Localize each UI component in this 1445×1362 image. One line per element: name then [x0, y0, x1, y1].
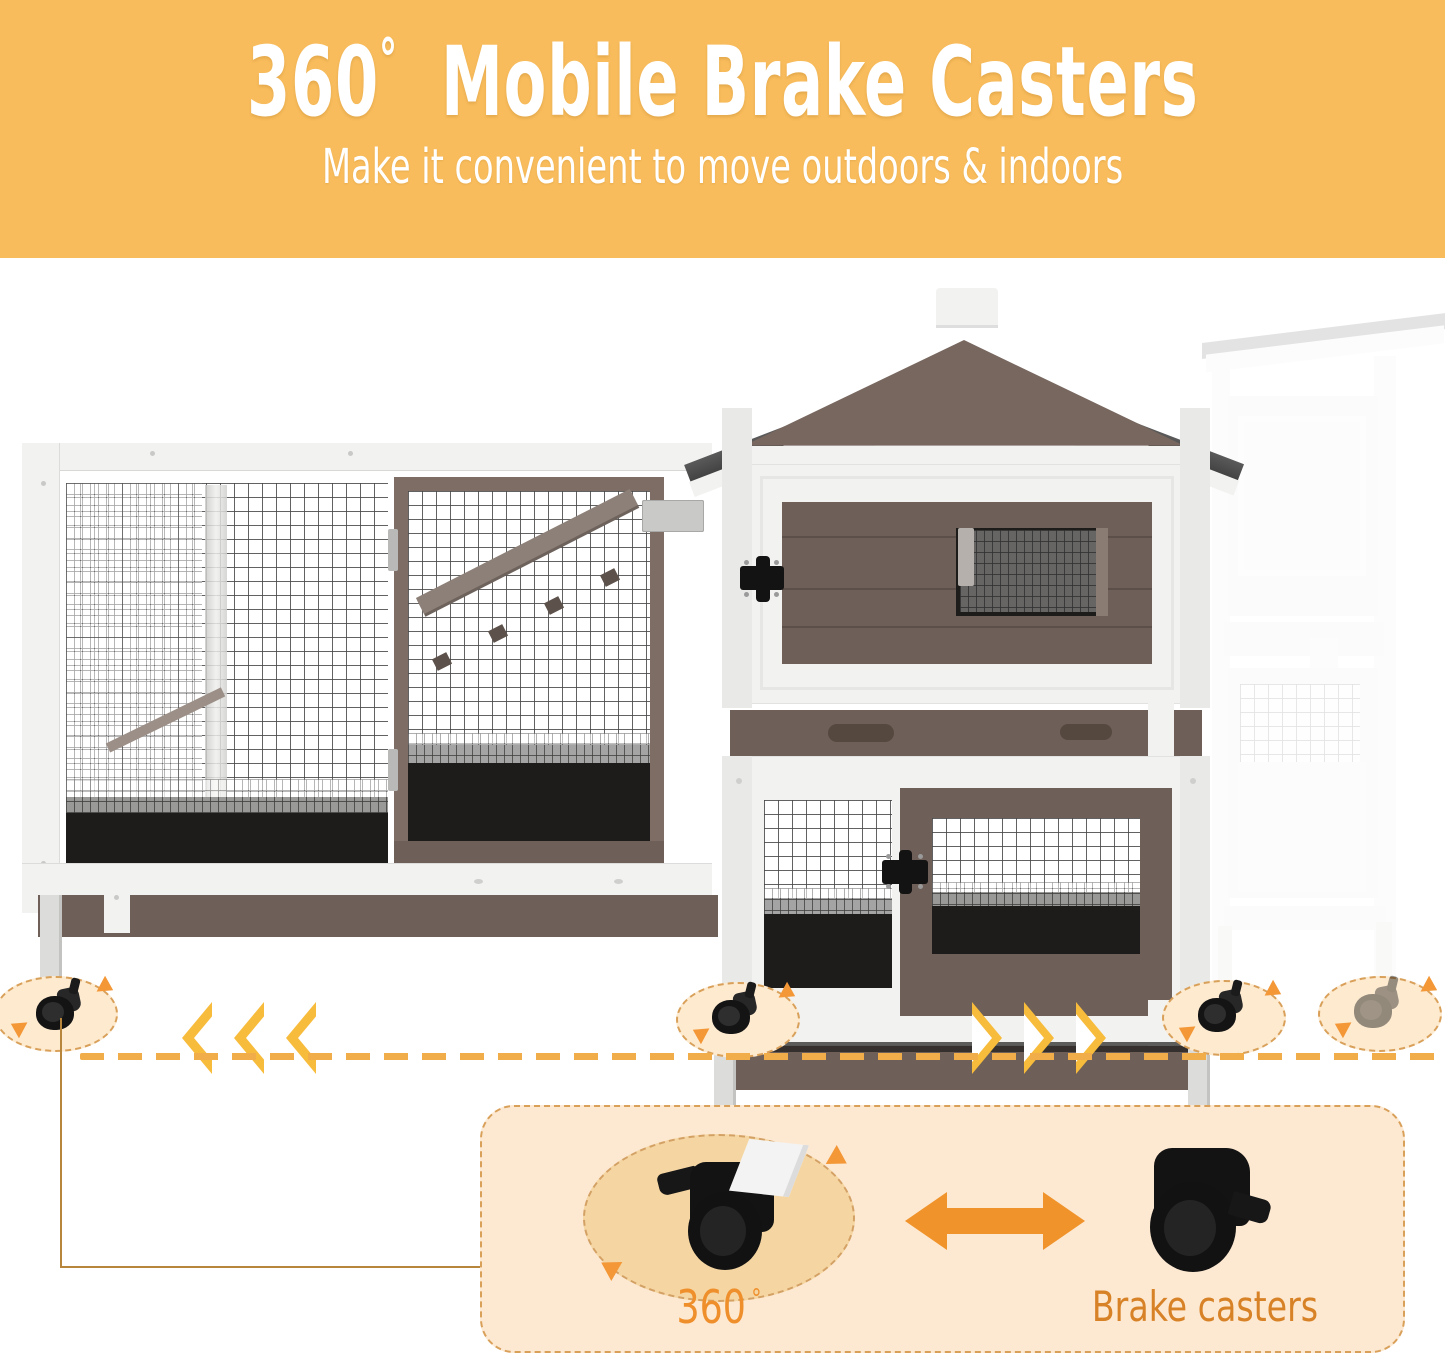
caster-wheel-3	[1194, 988, 1250, 1038]
chevron-left-3	[286, 1002, 316, 1074]
upper-nestbox-door[interactable]	[760, 476, 1174, 690]
chevron-left-2	[234, 1002, 264, 1074]
callout-360-degree: °	[751, 1284, 761, 1314]
banner-title-text: Mobile Brake Casters	[441, 26, 1199, 138]
door-hinge-upper	[740, 556, 784, 602]
chevron-right-1	[972, 1002, 1002, 1074]
lower-mesh-door-left[interactable]	[764, 788, 892, 1016]
lower-mesh-door-right[interactable]	[900, 788, 1172, 1016]
callout-label-360: 360°	[599, 1280, 838, 1334]
caster-wheel-4	[1350, 984, 1406, 1034]
callout-leader-horizontal	[60, 1266, 485, 1268]
product-photo	[0, 258, 1445, 1018]
tray-handle-2[interactable]	[1060, 724, 1112, 740]
pull-out-tray-center[interactable]	[730, 710, 1202, 760]
door-hinge-bottom	[388, 749, 398, 791]
banner-subtitle: Make it convenient to move outdoors & in…	[322, 139, 1123, 195]
banner-title-number: 360	[247, 26, 379, 138]
header-banner: 360°Mobile Brake Casters Make it conveni…	[0, 0, 1445, 258]
door-hinge-top	[388, 529, 398, 571]
chevron-right-3	[1076, 1002, 1106, 1074]
mesh-door-run[interactable]	[394, 477, 664, 877]
tray-catch-bracket	[1148, 702, 1174, 758]
run-latch[interactable]	[642, 500, 704, 532]
bidirectional-arrow-icon	[905, 1190, 1085, 1252]
ground-dashed-line	[80, 1053, 1445, 1060]
hutch-run-left	[22, 443, 712, 1133]
base-beam-left	[38, 895, 718, 937]
callout-caster-360	[660, 1148, 810, 1278]
lower-door-hinge	[882, 850, 928, 894]
caster-wheel-2	[708, 990, 764, 1040]
door-handle-upper[interactable]	[958, 528, 974, 586]
product-infographic: 360°Mobile Brake Casters Make it conveni…	[0, 0, 1445, 1362]
caster-mount-plate	[729, 1139, 809, 1197]
hutch-house	[660, 278, 1270, 1238]
banner-degree-symbol: °	[379, 28, 398, 93]
tray-handle[interactable]	[828, 724, 894, 742]
callout-label-brake-casters: Brake casters	[1073, 1282, 1337, 1331]
banner-title: 360°Mobile Brake Casters	[247, 32, 1199, 133]
callout-360-value: 360	[676, 1280, 746, 1334]
corner-bracket-left	[104, 881, 130, 933]
chevron-left-1	[182, 1002, 212, 1074]
chevron-right-2	[1024, 1002, 1054, 1074]
callout-leader-vertical	[60, 1018, 62, 1268]
callout-caster-brake	[1130, 1138, 1280, 1278]
